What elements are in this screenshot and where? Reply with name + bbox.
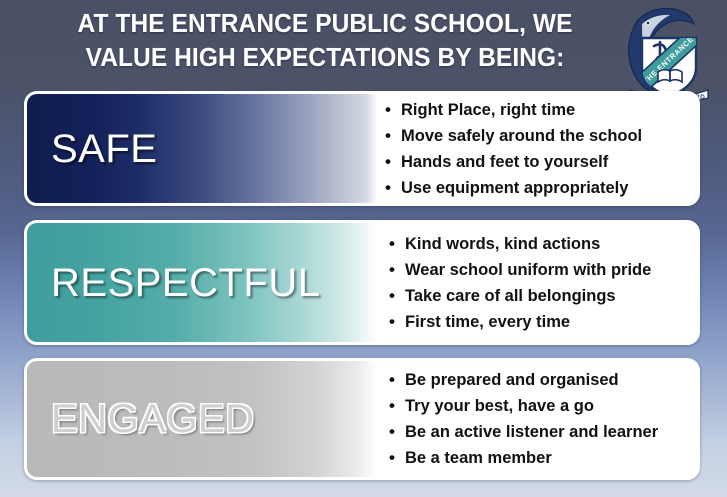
bullet-icon: •: [385, 97, 401, 123]
panel-label-engaged: ENGAGED: [27, 361, 377, 477]
poster-header: AT THE ENTRANCE PUBLIC SCHOOL, WE VALUE …: [0, 0, 727, 88]
expectation-panel-respectful: RESPECTFUL • Kind words, kind actions • …: [24, 220, 700, 345]
expectation-panel-engaged: ENGAGED • Be prepared and organised • Tr…: [24, 358, 700, 480]
list-item: • Be a team member: [389, 445, 697, 471]
panel-label-text: ENGAGED: [51, 399, 255, 439]
list-item: • Use equipment appropriately: [385, 175, 697, 201]
panel-bullets-respectful: • Kind words, kind actions • Wear school…: [377, 223, 697, 342]
bullet-icon: •: [385, 123, 401, 149]
panel-label-respectful: RESPECTFUL: [27, 223, 377, 342]
bullet-icon: •: [389, 367, 405, 393]
bullet-text: Move safely around the school: [401, 123, 697, 149]
bullet-text: First time, every time: [405, 309, 697, 335]
bullet-text: Right Place, right time: [401, 97, 697, 123]
title-line-1: AT THE ENTRANCE PUBLIC SCHOOL, WE: [51, 7, 598, 41]
panel-bullets-safe: • Right Place, right time • Move safely …: [377, 94, 697, 203]
page-title: AT THE ENTRANCE PUBLIC SCHOOL, WE VALUE …: [40, 7, 610, 75]
bullet-text: Be an active listener and learner: [405, 419, 697, 445]
bullet-text: Take care of all belongings: [405, 283, 697, 309]
list-item: • First time, every time: [389, 309, 697, 335]
bullet-icon: •: [389, 231, 405, 257]
title-line-2: VALUE HIGH EXPECTATIONS BY BEING:: [51, 41, 598, 75]
bullet-text: Kind words, kind actions: [405, 231, 697, 257]
bullet-icon: •: [389, 445, 405, 471]
expectations-poster: AT THE ENTRANCE PUBLIC SCHOOL, WE VALUE …: [0, 0, 727, 497]
expectation-panel-safe: SAFE • Right Place, right time • Move sa…: [24, 91, 700, 206]
bullet-text: Be prepared and organised: [405, 367, 697, 393]
bullet-text: Try your best, have a go: [405, 393, 697, 419]
bullet-icon: •: [389, 309, 405, 335]
list-item: • Hands and feet to yourself: [385, 149, 697, 175]
list-item: • Wear school uniform with pride: [389, 257, 697, 283]
bullet-icon: •: [389, 257, 405, 283]
bullet-text: Be a team member: [405, 445, 697, 471]
list-item: • Be an active listener and learner: [389, 419, 697, 445]
list-item: • Be prepared and organised: [389, 367, 697, 393]
bullet-icon: •: [385, 175, 401, 201]
panel-label-text: SAFE: [51, 129, 157, 169]
list-item: • Right Place, right time: [385, 97, 697, 123]
bullet-icon: •: [389, 393, 405, 419]
panel-label-safe: SAFE: [27, 94, 377, 203]
panel-bullets-engaged: • Be prepared and organised • Try your b…: [377, 361, 697, 477]
panel-label-text: RESPECTFUL: [51, 263, 321, 303]
list-item: • Take care of all belongings: [389, 283, 697, 309]
list-item: • Try your best, have a go: [389, 393, 697, 419]
bullet-icon: •: [389, 419, 405, 445]
bullet-icon: •: [385, 149, 401, 175]
bullet-text: Wear school uniform with pride: [405, 257, 697, 283]
bullet-text: Use equipment appropriately: [401, 175, 697, 201]
list-item: • Kind words, kind actions: [389, 231, 697, 257]
bullet-icon: •: [389, 283, 405, 309]
bullet-text: Hands and feet to yourself: [401, 149, 697, 175]
list-item: • Move safely around the school: [385, 123, 697, 149]
